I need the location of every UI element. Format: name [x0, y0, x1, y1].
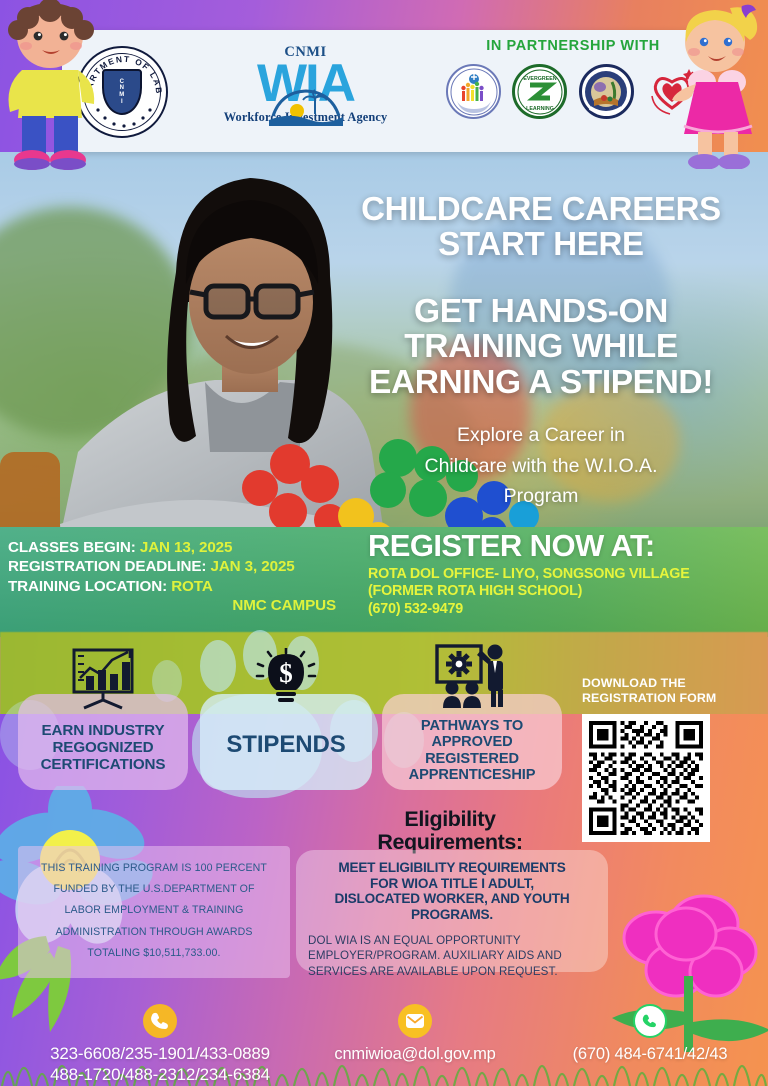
headline1-line1: CHILDCARE CAREERS	[326, 192, 756, 227]
register-title: REGISTER NOW AT:	[368, 530, 764, 561]
classes-begin-row: CLASSES BEGIN: JAN 13, 2025	[8, 538, 358, 557]
qr-title-line1: DOWNLOAD THE	[582, 676, 758, 691]
training-presenter-icon	[380, 646, 564, 708]
svg-text:EVERGREEN: EVERGREEN	[523, 76, 556, 82]
register-phone[interactable]: (670) 532-9479	[368, 601, 764, 618]
location-value: ROTA	[171, 578, 213, 595]
hero-subtitle: Explore a Career in Childcare with the W…	[326, 420, 756, 511]
funding-disclaimer-text: THIS TRAINING PROGRAM IS 100 PERCENT FUN…	[28, 858, 280, 964]
funding-disclaimer-card: THIS TRAINING PROGRAM IS 100 PERCENT FUN…	[18, 846, 290, 978]
phone-icon	[143, 1004, 177, 1038]
feature-label-line: STIPENDS	[200, 732, 372, 759]
footer-whatsapp-block: (670) 484-6741/42/43	[540, 1004, 760, 1064]
whatsapp-icon	[633, 1004, 667, 1038]
feature-label-line: REGISTERED	[380, 751, 564, 767]
headline-primary: CHILDCARE CAREERS START HERE	[326, 192, 756, 262]
lightbulb-dollar-icon: $	[200, 648, 372, 710]
register-address-line1: ROTA DOL OFFICE- LIYO, SONGSONG VILLAGE	[368, 566, 764, 583]
partnership-section: IN PARTNERSHIP WITH	[444, 38, 702, 119]
child-care-licensing-program-logo-icon	[446, 64, 501, 119]
eligibility-line: FOR WIOA TITLE I ADULT,	[308, 876, 596, 892]
chart-presentation-icon	[10, 648, 196, 710]
qr-title-line2: REGISTRATION FORM	[582, 691, 758, 706]
hero-text-block: CHILDCARE CAREERS START HERE GET HANDS-O…	[326, 192, 756, 511]
feature-certifications-label: EARN INDUSTRY REGOGNIZED CERTIFICATIONS	[10, 722, 196, 773]
headline-secondary: GET HANDS-ON TRAINING WHILE EARNING A ST…	[326, 294, 756, 401]
funding-line: THIS TRAINING PROGRAM IS 100 PERCENT	[28, 858, 280, 879]
register-address-line2: (FORMER ROTA HIGH SCHOOL)	[368, 583, 764, 600]
feature-label-line: REGOGNIZED	[10, 739, 196, 756]
location-value2: NMC CAMPUS	[232, 597, 336, 614]
svg-text:$: $	[279, 658, 293, 688]
envelope-icon	[398, 1004, 432, 1038]
eligibility-card: MEET ELIGIBILITY REQUIREMENTS FOR WIOA T…	[296, 850, 608, 972]
deadline-label: REGISTRATION DEADLINE:	[8, 558, 206, 575]
equal-opportunity-note: DOL WIA IS AN EQUAL OPPORTUNITY EMPLOYER…	[308, 933, 596, 981]
location-label: TRAINING LOCATION:	[8, 578, 167, 595]
phone-line[interactable]: 488-1720/488-2312/234-6384	[10, 1065, 310, 1086]
partner-logo-row: EVERGREEN LEARNING	[444, 64, 702, 119]
headline2-line2: TRAINING WHILE	[326, 329, 756, 365]
phone-line[interactable]: 323-6608/235-1901/433-0889	[10, 1044, 310, 1065]
feature-apprenticeship: PATHWAYS TO APPROVED REGISTERED APPRENTI…	[380, 646, 564, 783]
qr-code-container[interactable]	[582, 714, 710, 842]
cnmi-seal-logo-icon	[579, 64, 634, 119]
deadline-value: JAN 3, 2025	[210, 558, 294, 575]
cartoon-boy-illustration	[0, 0, 106, 172]
feature-label-line: APPROVED	[380, 734, 564, 750]
eligibility-line: DISLOCATED WORKER, AND YOUTH	[308, 891, 596, 907]
partnership-title: IN PARTNERSHIP WITH	[444, 38, 702, 54]
subtitle-line1: Explore a Career in	[326, 420, 756, 450]
eligibility-title: Eligibility Requirements:	[300, 808, 600, 854]
registration-deadline-row: REGISTRATION DEADLINE: JAN 3, 2025	[8, 557, 358, 576]
subtitle-line2: Childcare with the W.I.O.A.	[326, 451, 756, 481]
classes-begin-label: CLASSES BEGIN:	[8, 539, 136, 556]
headline2-line3: EARNING A STIPEND!	[326, 365, 756, 401]
feature-label-line: APPRENTICESHIP	[380, 767, 564, 783]
eligibility-requirements-text: MEET ELIGIBILITY REQUIREMENTS FOR WIOA T…	[308, 860, 596, 923]
island-graphic-icon	[267, 86, 345, 126]
svg-text:LEARNING: LEARNING	[526, 106, 554, 112]
footer-whatsapp-number[interactable]: (670) 484-6741/42/43	[540, 1044, 760, 1064]
funding-line: LABOR EMPLOYMENT & TRAINING	[28, 900, 280, 921]
footer-email-block: cnmiwioa@dol.gov.mp	[300, 1004, 530, 1064]
eligibility-line: MEET ELIGIBILITY REQUIREMENTS	[308, 860, 596, 876]
qr-section: DOWNLOAD THE REGISTRATION FORM	[582, 676, 758, 842]
cartoon-girl-illustration	[668, 4, 768, 169]
footer-phone-numbers[interactable]: 323-6608/235-1901/433-0889 488-1720/488-…	[10, 1044, 310, 1085]
subtitle-line3: Program	[326, 481, 756, 511]
feature-apprenticeship-label: PATHWAYS TO APPROVED REGISTERED APPRENTI…	[380, 718, 564, 783]
header-logo-bar: DEPARTMENT OF LABOR CNMI CNMI WIA	[62, 30, 707, 152]
feature-label-line: PATHWAYS TO	[380, 718, 564, 734]
register-block: REGISTER NOW AT: ROTA DOL OFFICE- LIYO, …	[368, 530, 764, 618]
footer-phone-block: 323-6608/235-1901/433-0889 488-1720/488-…	[10, 1004, 310, 1085]
training-campus-row: NMC CAMPUS	[8, 596, 358, 615]
feature-stipends-label: STIPENDS	[200, 732, 372, 759]
feature-certifications: EARN INDUSTRY REGOGNIZED CERTIFICATIONS	[10, 648, 196, 773]
classes-begin-value: JAN 13, 2025	[140, 539, 233, 556]
evergreen-learning-logo-icon: EVERGREEN LEARNING	[512, 64, 567, 119]
qr-code-icon[interactable]	[589, 721, 703, 835]
funding-line: ADMINISTRATION THROUGH AWARDS	[28, 922, 280, 943]
feature-stipends: $ STIPENDS	[200, 648, 372, 759]
feature-label-line: CERTIFICATIONS	[10, 756, 196, 773]
training-location-row: TRAINING LOCATION: ROTA	[8, 577, 358, 596]
headline1-line2: START HERE	[326, 227, 756, 262]
qr-title: DOWNLOAD THE REGISTRATION FORM	[582, 676, 758, 706]
flyer-root: DEPARTMENT OF LABOR CNMI CNMI WIA	[0, 0, 768, 1086]
funding-line: TOTALING $10,511,733.00.	[28, 943, 280, 964]
eligibility-title-line1: Eligibility	[300, 808, 600, 831]
funding-line: FUNDED BY THE U.S.DEPARTMENT OF	[28, 879, 280, 900]
cnmi-wia-logo: CNMI WIA Workforce Investment Agency	[178, 44, 433, 125]
eligibility-line: PROGRAMS.	[308, 907, 596, 923]
feature-label-line: EARN INDUSTRY	[10, 722, 196, 739]
headline2-line1: GET HANDS-ON	[326, 294, 756, 330]
class-info-block: CLASSES BEGIN: JAN 13, 2025 REGISTRATION…	[8, 538, 358, 616]
footer-email-address[interactable]: cnmiwioa@dol.gov.mp	[300, 1044, 530, 1064]
